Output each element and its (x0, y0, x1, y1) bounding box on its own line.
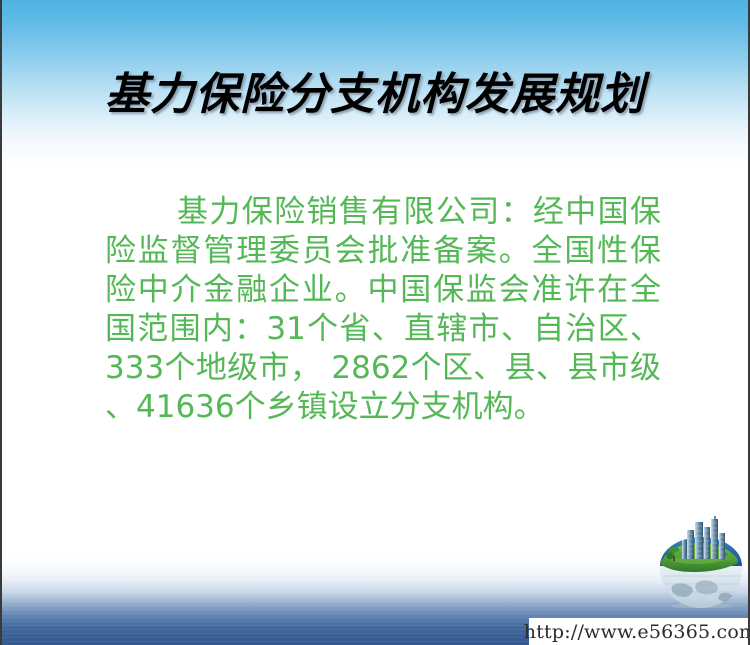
watermark-url-text: http://www.e56365.com (524, 621, 750, 643)
slide-title: 基力保险分支机构发展规划 (2, 58, 748, 122)
earth-city-globe-icon (654, 516, 748, 608)
presentation-slide: 基力保险分支机构发展规划 基力保险销售有限公司：经中国保险监督管理委员会批准备案… (0, 0, 750, 645)
watermark-url-box: http://www.e56365.com (529, 618, 750, 645)
slide-body-paragraph: 基力保险销售有限公司：经中国保险监督管理委员会批准备案。全国性保险中介金融企业。… (105, 193, 661, 427)
